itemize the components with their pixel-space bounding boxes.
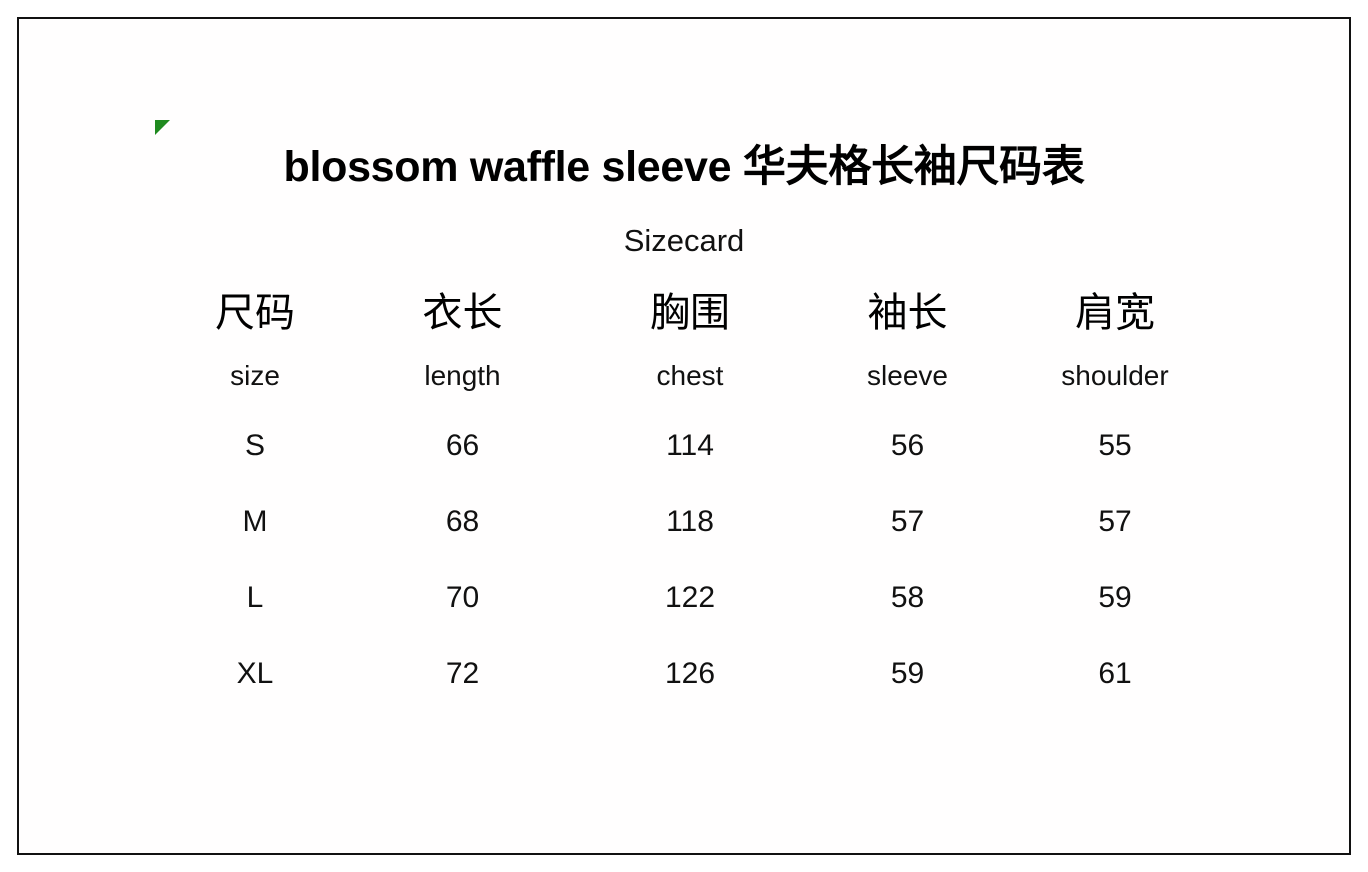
cell-size: XL — [160, 636, 350, 712]
size-chart-table: 尺码 衣长 胸围 袖长 肩宽 size length chest sleeve … — [160, 282, 1220, 712]
card-content: blossom waffle sleeve 华夫格长袖尺码表 Sizecard … — [0, 0, 1368, 872]
cell-chest: 126 — [575, 636, 805, 712]
cell-length: 72 — [350, 636, 575, 712]
cell-sleeve: 56 — [805, 408, 1010, 484]
table-header-row-en: size length chest sleeve shoulder — [160, 344, 1220, 408]
cell-size: S — [160, 408, 350, 484]
column-header-size-cn: 尺码 — [160, 282, 350, 344]
cell-size: L — [160, 560, 350, 636]
table-row: M 68 118 57 57 — [160, 484, 1220, 560]
table-row: L 70 122 58 59 — [160, 560, 1220, 636]
cell-sleeve: 57 — [805, 484, 1010, 560]
cell-shoulder: 55 — [1010, 408, 1220, 484]
column-header-sleeve-en: sleeve — [805, 344, 1010, 408]
cell-chest: 118 — [575, 484, 805, 560]
page-title: blossom waffle sleeve 华夫格长袖尺码表 — [0, 143, 1368, 192]
column-header-length-en: length — [350, 344, 575, 408]
table-row: XL 72 126 59 61 — [160, 636, 1220, 712]
column-header-length-cn: 衣长 — [350, 282, 575, 344]
cell-length: 70 — [350, 560, 575, 636]
cell-length: 66 — [350, 408, 575, 484]
column-header-chest-en: chest — [575, 344, 805, 408]
cell-size: M — [160, 484, 350, 560]
sizecard-page: blossom waffle sleeve 华夫格长袖尺码表 Sizecard … — [0, 0, 1368, 872]
table-header-row-cn: 尺码 衣长 胸围 袖长 肩宽 — [160, 282, 1220, 344]
column-header-chest-cn: 胸围 — [575, 282, 805, 344]
cell-length: 68 — [350, 484, 575, 560]
cell-sleeve: 59 — [805, 636, 1010, 712]
page-subtitle: Sizecard — [0, 222, 1368, 259]
cell-chest: 122 — [575, 560, 805, 636]
cell-chest: 114 — [575, 408, 805, 484]
cell-shoulder: 59 — [1010, 560, 1220, 636]
table-row: S 66 114 56 55 — [160, 408, 1220, 484]
cell-sleeve: 58 — [805, 560, 1010, 636]
cell-shoulder: 61 — [1010, 636, 1220, 712]
cell-shoulder: 57 — [1010, 484, 1220, 560]
column-header-size-en: size — [160, 344, 350, 408]
column-header-shoulder-en: shoulder — [1010, 344, 1220, 408]
green-corner-flag-icon — [155, 120, 170, 135]
column-header-sleeve-cn: 袖长 — [805, 282, 1010, 344]
column-header-shoulder-cn: 肩宽 — [1010, 282, 1220, 344]
